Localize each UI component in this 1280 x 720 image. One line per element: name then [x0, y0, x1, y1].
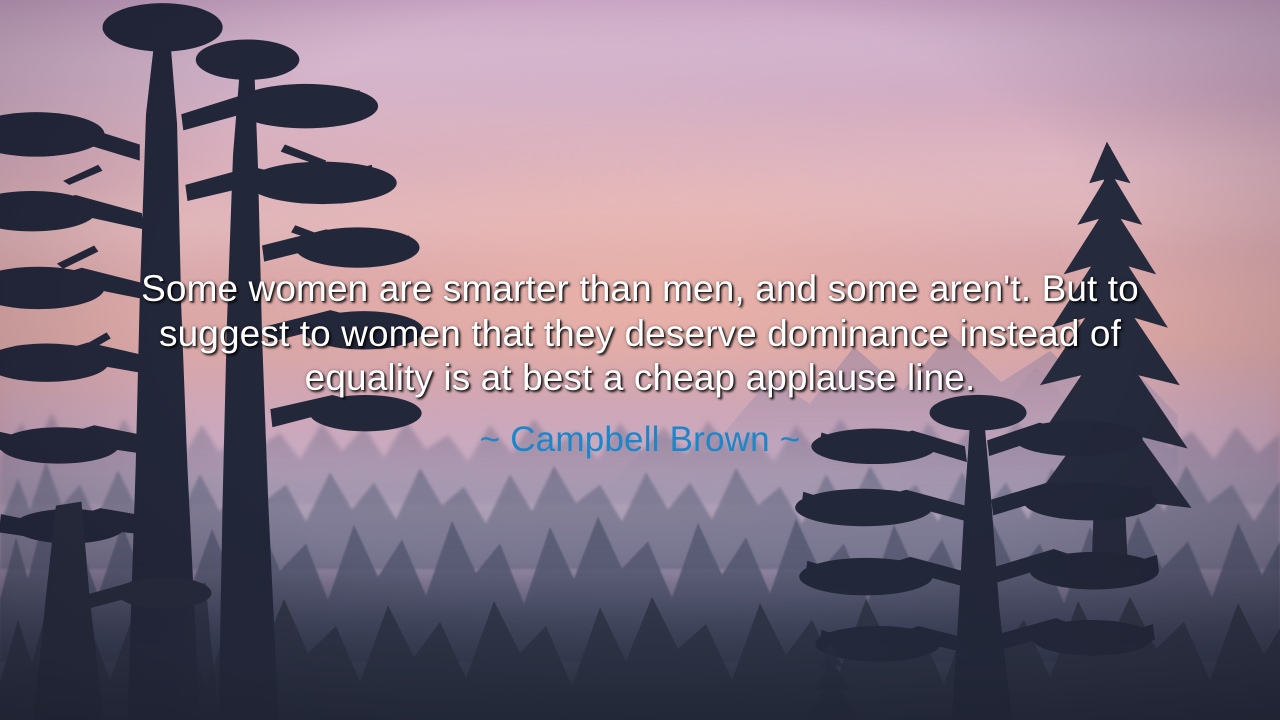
quote-wallpaper: Some women are smarter than men, and som…	[0, 0, 1280, 720]
text-overlay: Some women are smarter than men, and som…	[0, 0, 1280, 720]
author-attribution: ~ Campbell Brown ~	[480, 419, 801, 461]
quote-text: Some women are smarter than men, and som…	[95, 267, 1185, 401]
